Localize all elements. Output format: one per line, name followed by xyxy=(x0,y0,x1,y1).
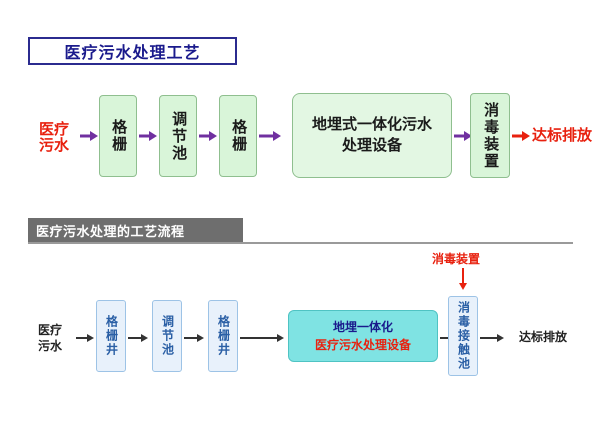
section2-title: 医疗污水处理的工艺流程 xyxy=(36,221,185,240)
s1-node-equalization-tank: 调节池 xyxy=(159,95,197,177)
s2-arrow-2 xyxy=(128,334,148,342)
s2-node-grate-well-1-label: 格栅井 xyxy=(105,315,118,357)
section2-title-underline xyxy=(28,242,573,244)
s2-arrow-3 xyxy=(184,334,204,342)
s2-arrow-6 xyxy=(480,334,504,342)
section1-title-box: 医疗污水处理工艺 xyxy=(28,37,237,65)
s2-node-grate-well-1: 格栅井 xyxy=(96,300,126,372)
s1-node-grate-2: 格栅 xyxy=(219,95,257,177)
diagram-canvas: 医疗污水处理工艺 医疗污水 格栅 调节池 格栅 地埋式一体化污水处理设备 消毒装… xyxy=(0,0,600,430)
s1-arrow-4 xyxy=(259,131,281,141)
s1-node-influent: 医疗污水 xyxy=(28,112,80,164)
s2-node-compliant-discharge: 达标排放 xyxy=(508,326,578,348)
s1-node-buried-integrated-equipment-label: 地埋式一体化污水处理设备 xyxy=(307,115,437,156)
s2-callout-arrow xyxy=(458,268,468,290)
s2-node-buried-integrated-equipment-line2: 医疗污水处理设备 xyxy=(315,336,411,354)
s1-arrow-6 xyxy=(512,131,530,141)
section2-title-box: 医疗污水处理的工艺流程 xyxy=(28,218,243,242)
s1-node-influent-label: 医疗污水 xyxy=(39,122,69,154)
s1-node-disinfection-device-label: 消毒装置 xyxy=(482,102,498,170)
s1-arrow-2 xyxy=(139,131,157,141)
s1-node-equalization-tank-label: 调节池 xyxy=(170,111,186,162)
s2-node-equalization-tank-label: 调节池 xyxy=(161,315,174,357)
s2-arrow-4 xyxy=(240,334,284,342)
s2-node-grate-well-2: 格栅井 xyxy=(208,300,238,372)
s1-node-buried-integrated-equipment: 地埋式一体化污水处理设备 xyxy=(292,93,452,178)
s2-node-equalization-tank: 调节池 xyxy=(152,300,182,372)
s1-node-grate-1-label: 格栅 xyxy=(110,119,126,153)
s2-node-influent-label: 医疗污水 xyxy=(37,323,63,354)
s1-node-grate-1: 格栅 xyxy=(99,95,137,177)
s1-node-compliant-discharge: 达标排放 xyxy=(531,122,593,150)
s1-arrow-1 xyxy=(80,131,98,141)
s1-node-compliant-discharge-label: 达标排放 xyxy=(532,128,592,144)
s2-node-compliant-discharge-label: 达标排放 xyxy=(519,331,567,344)
s2-node-disinfection-contact-tank: 消毒接触池 xyxy=(448,296,478,376)
s1-node-grate-2-label: 格栅 xyxy=(230,119,246,153)
s2-node-disinfection-contact-tank-label: 消毒接触池 xyxy=(457,301,470,371)
s1-node-disinfection-device: 消毒装置 xyxy=(470,93,510,178)
section1-title: 医疗污水处理工艺 xyxy=(64,39,200,63)
s2-node-grate-well-2-label: 格栅井 xyxy=(217,315,230,357)
s1-arrow-3 xyxy=(199,131,217,141)
s2-node-buried-integrated-equipment-line1: 地埋一体化 xyxy=(333,318,393,336)
s2-node-buried-integrated-equipment: 地埋一体化 医疗污水处理设备 xyxy=(288,310,438,362)
s2-node-influent: 医疗污水 xyxy=(26,317,74,361)
s2-callout-disinfection-device-label: 消毒装置 xyxy=(432,250,480,267)
s2-arrow-1 xyxy=(76,334,94,342)
